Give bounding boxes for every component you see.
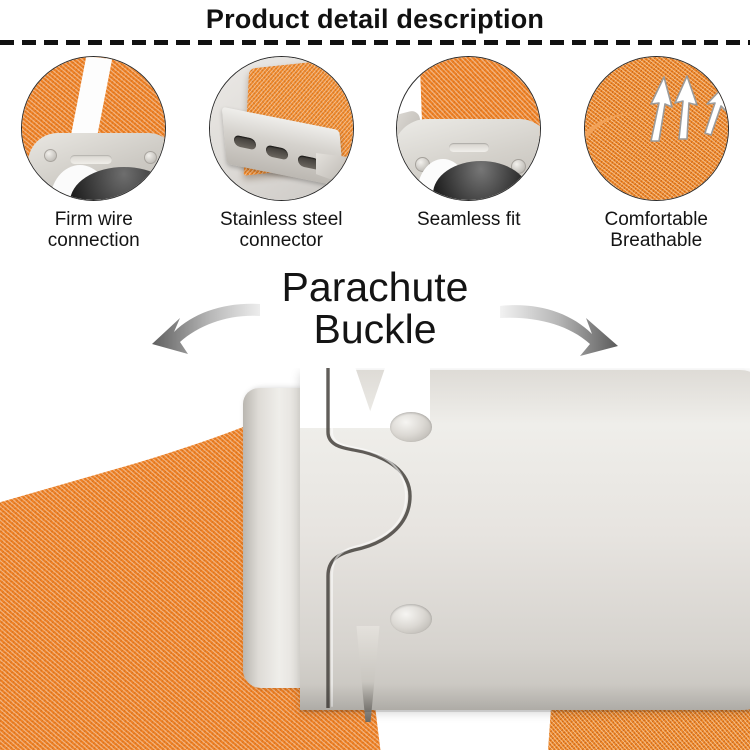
feature-label-stainless-steel-connector: Stainless steel connector xyxy=(191,209,371,252)
feature-image-seamless-fit xyxy=(396,56,541,201)
curved-arrow-left-icon xyxy=(140,298,260,370)
case-slot xyxy=(449,143,489,152)
feature-label-line1: Seamless fit xyxy=(417,209,520,230)
buckle-pin-hole xyxy=(390,604,432,634)
feature-image-comfortable-breathable xyxy=(584,56,729,201)
page-title: Product detail description xyxy=(206,4,544,35)
feature-label-seamless-fit: Seamless fit xyxy=(379,209,559,230)
feature-label-line1: Comfortable xyxy=(605,209,709,230)
page-title-bar: Product detail description xyxy=(0,0,750,38)
buckle-bottom-shadow xyxy=(300,684,750,712)
buckle-pin-hole xyxy=(390,412,432,442)
feature-label-line2: connector xyxy=(240,230,323,251)
feature-image-firm-wire-connection xyxy=(21,56,166,201)
feature-image-stainless-steel-connector xyxy=(209,56,354,201)
feature-label-line1: Firm wire xyxy=(55,209,133,230)
hero-heading-line1: Parachute xyxy=(0,266,750,308)
case-screw xyxy=(144,151,157,164)
feature-label-firm-wire-connection: Firm wire connection xyxy=(4,209,184,252)
feature-label-line2: connection xyxy=(48,230,140,251)
case-screw xyxy=(44,149,57,162)
feature-label-line2: Breathable xyxy=(610,230,702,251)
product-detail-image: Product detail description Firm wire con… xyxy=(0,0,750,750)
feature-label-comfortable-breathable: Comfortable Breathable xyxy=(566,209,746,252)
hero-heading-line2: Buckle xyxy=(0,308,750,350)
dashed-divider xyxy=(0,40,750,45)
feature-seamless-fit: Seamless fit xyxy=(375,56,563,252)
airflow-arrows-icon xyxy=(637,67,729,147)
feature-comfortable-breathable: Comfortable Breathable xyxy=(563,56,750,252)
curved-arrow-right-icon xyxy=(498,298,628,370)
feature-firm-wire-connection: Firm wire connection xyxy=(0,56,188,252)
feature-label-line1: Stainless steel xyxy=(220,209,343,230)
feature-stainless-steel-connector: Stainless steel connector xyxy=(188,56,376,252)
buckle-photo xyxy=(0,368,750,750)
feature-row: Firm wire connection Stainless steel con… xyxy=(0,56,750,252)
case-slot xyxy=(70,155,112,164)
hero-heading: Parachute Buckle xyxy=(0,266,750,350)
